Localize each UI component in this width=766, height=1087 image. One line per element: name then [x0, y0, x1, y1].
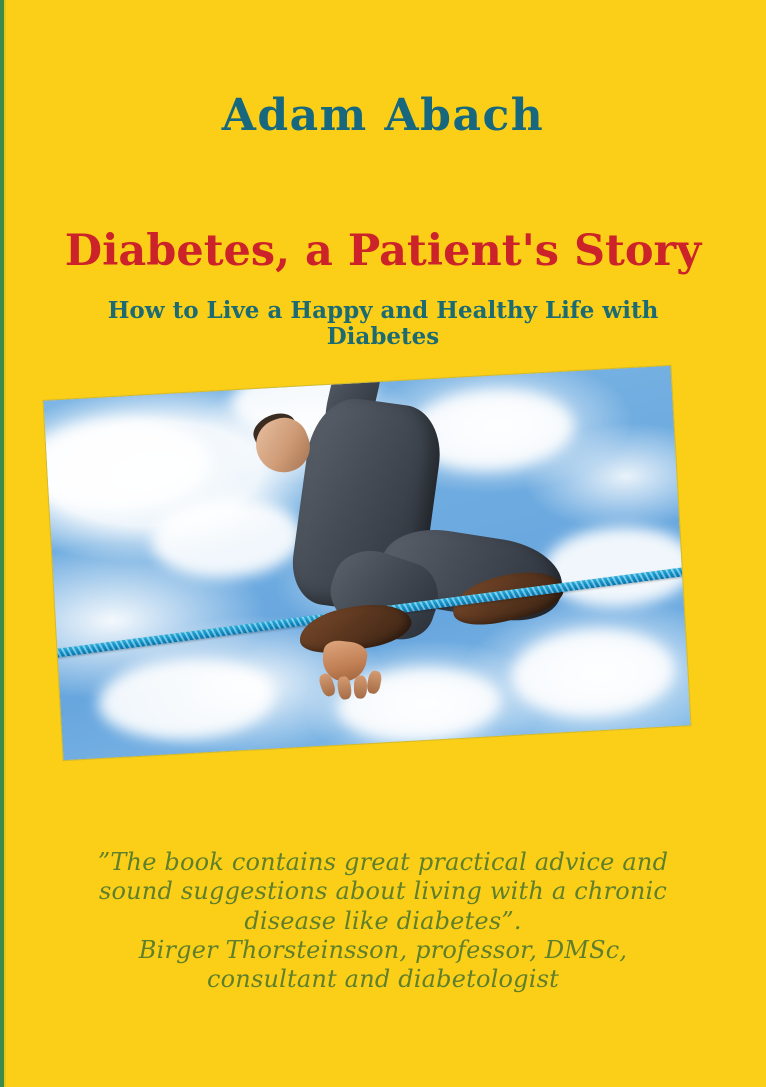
tightrope-walker-figure [43, 366, 690, 760]
quote-line-2: sound suggestions about living with a ch… [63, 877, 703, 906]
sky-background [43, 366, 690, 760]
book-subtitle: How to Live a Happy and Healthy Life wit… [63, 298, 703, 350]
quote-line-3: disease like diabetes”. [63, 907, 703, 936]
spine-stripe-highlight [4, 0, 6, 1087]
endorsement-quote: ”The book contains great practical advic… [63, 848, 703, 994]
quote-attribution-line-1: Birger Thorsteinsson, professor, DMSc, [63, 936, 703, 965]
quote-line-1: ”The book contains great practical advic… [63, 848, 703, 877]
finger [354, 675, 368, 699]
cover-photo [43, 366, 690, 760]
subtitle-line-2: Diabetes [63, 324, 703, 350]
subtitle-line-1: How to Live a Happy and Healthy Life wit… [63, 298, 703, 324]
book-title: Diabetes, a Patient's Story [0, 228, 766, 275]
book-cover: Adam Abach Diabetes, a Patient's Story H… [0, 0, 766, 1087]
author-name: Adam Abach [0, 92, 766, 140]
quote-attribution-line-2: consultant and diabetologist [63, 965, 703, 994]
